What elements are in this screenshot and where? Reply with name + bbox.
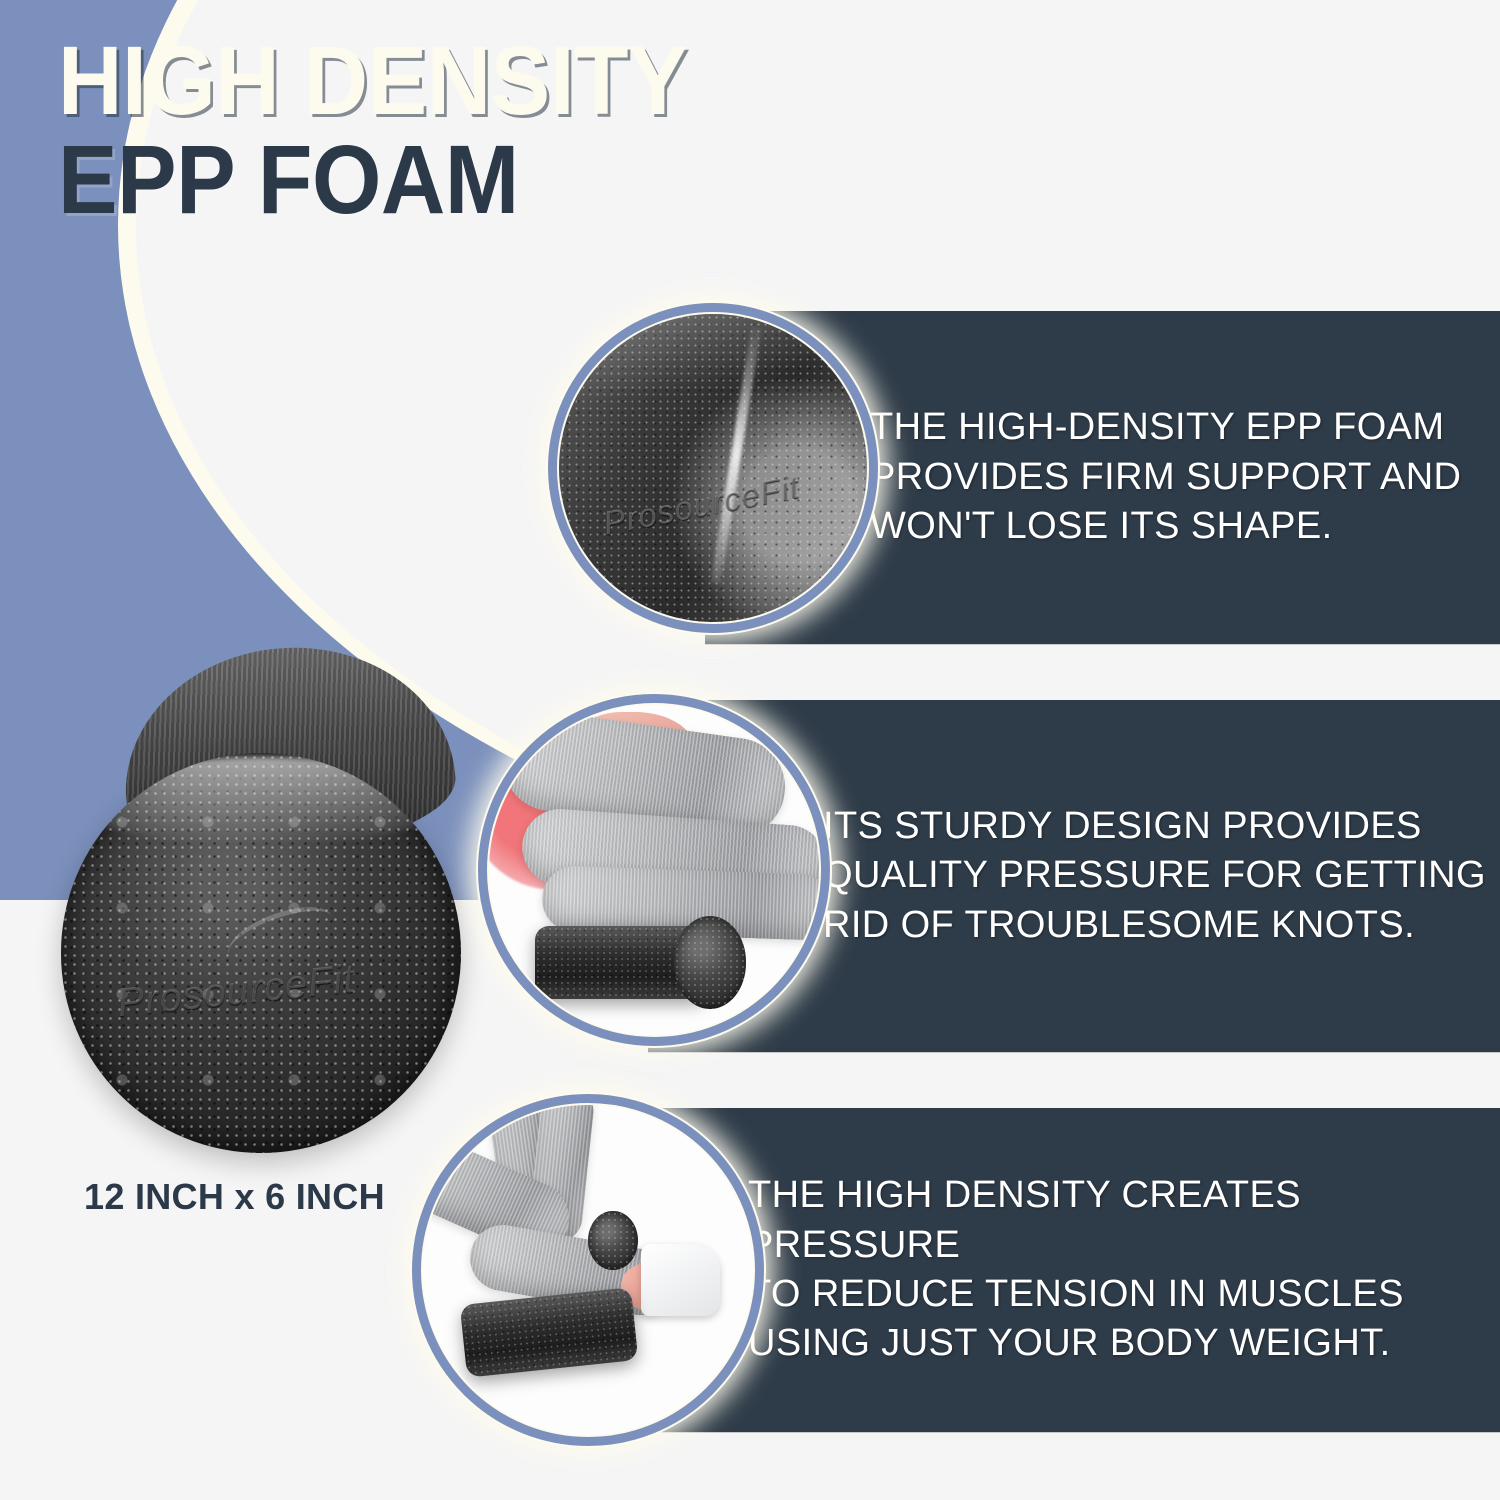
- foam-roller: [459, 1288, 637, 1378]
- foam-roller-end-cap: [674, 916, 747, 1008]
- shoe: [641, 1244, 720, 1317]
- feature-text-2: ITS STURDY DESIGN PROVIDES QUALITY PRESS…: [823, 802, 1486, 950]
- thigh-roll-scene: [489, 705, 819, 1035]
- roller-texture: [459, 1288, 637, 1378]
- feature-image-2: [478, 694, 830, 1046]
- title-line-primary: HIGH DENSITY: [58, 34, 687, 128]
- feature-text-3: THE HIGH DENSITY CREATES PRESSURE TO RED…: [748, 1171, 1500, 1369]
- roller-end-face: ProsourceFit: [61, 753, 461, 1153]
- feature-image-1-photo: ProsourceFit: [559, 314, 867, 622]
- feature-image-2-photo: [489, 705, 819, 1035]
- foam-roller-end-cap: [588, 1211, 638, 1270]
- dimension-label: 12 INCH x 6 INCH: [84, 1176, 385, 1218]
- product-hero-image: ProsourceFit: [55, 648, 475, 1158]
- roller-cap-texture: [588, 1211, 638, 1270]
- feature-text-1: THE HIGH-DENSITY EPP FOAM PROVIDES FIRM …: [870, 403, 1461, 551]
- infographic-canvas: HIGH DENSITY EPP FOAM THE HIGH-DENSITY E…: [0, 0, 1500, 1500]
- roller-cap-texture: [674, 916, 747, 1008]
- title-line-secondary: EPP FOAM: [58, 133, 687, 227]
- page-title: HIGH DENSITY EPP FOAM: [58, 34, 742, 227]
- roller-end-face-rim-highlight: [69, 757, 453, 845]
- feature-image-1: ProsourceFit: [548, 303, 878, 633]
